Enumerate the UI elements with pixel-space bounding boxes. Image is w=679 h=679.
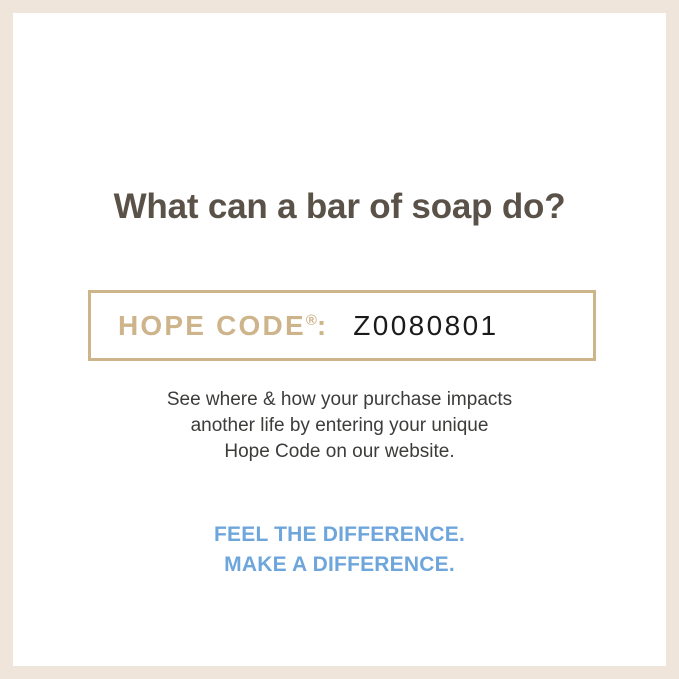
tagline-line-1: FEEL THE DIFFERENCE. <box>13 520 666 550</box>
registered-trademark-icon: ® <box>306 313 317 328</box>
hope-code-colon: : <box>317 312 326 340</box>
hope-code-value: Z0080801 <box>353 312 498 340</box>
description-line-2: another life by entering your unique <box>13 413 666 439</box>
description-line-1: See where & how your purchase impacts <box>13 387 666 413</box>
page-title: What can a bar of soap do? <box>13 188 666 227</box>
card-content: What can a bar of soap do? HOPE CODE®: Z… <box>13 13 666 666</box>
description-line-3: Hope Code on our website. <box>13 439 666 465</box>
hope-code-label: HOPE CODE®: <box>118 312 326 340</box>
hope-code-box: HOPE CODE®: Z0080801 <box>88 290 596 361</box>
hope-code-label-text: HOPE CODE <box>118 312 306 340</box>
description-text: See where & how your purchase impacts an… <box>13 387 666 465</box>
tagline: FEEL THE DIFFERENCE. MAKE A DIFFERENCE. <box>13 520 666 580</box>
tagline-line-2: MAKE A DIFFERENCE. <box>13 550 666 580</box>
product-insert-card: What can a bar of soap do? HOPE CODE®: Z… <box>13 13 666 666</box>
